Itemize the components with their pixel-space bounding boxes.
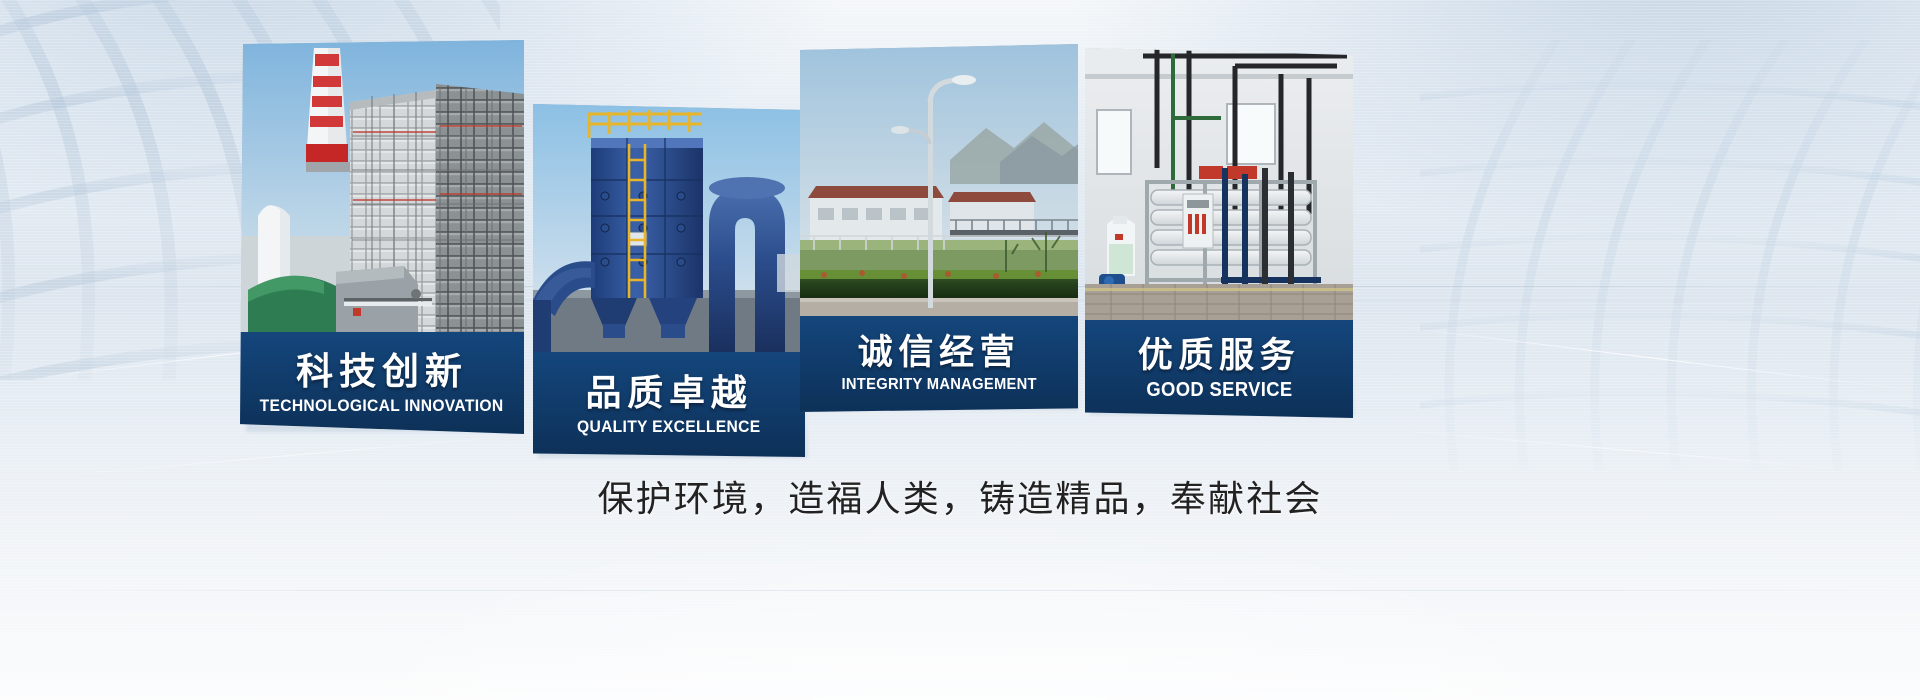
photo-quality-excellence <box>533 104 805 352</box>
panel-quality-excellence[interactable]: 品质卓越 QUALITY EXCELLENCE <box>533 104 805 457</box>
panel-technological-innovation[interactable]: 科技创新 TECHNOLOGICAL INNOVATION <box>240 40 524 434</box>
caption-cn-2: 品质卓越 <box>585 375 752 411</box>
caption-cn-1: 科技创新 <box>296 353 468 390</box>
caption-cn-3: 诚信经营 <box>858 335 1020 370</box>
caption-en-1: TECHNOLOGICAL INNOVATION <box>260 397 504 414</box>
caption-quality-excellence: 品质卓越 QUALITY EXCELLENCE <box>533 352 805 457</box>
panel-good-service[interactable]: 优质服务 GOOD SERVICE <box>1085 48 1353 418</box>
caption-good-service: 优质服务 GOOD SERVICE <box>1085 320 1353 418</box>
photo-good-service <box>1085 48 1353 320</box>
caption-en-2: QUALITY EXCELLENCE <box>577 418 760 435</box>
photo-integrity-management <box>800 44 1078 316</box>
company-tagline: 保护环境，造福人类，铸造精品，奉献社会 <box>0 470 1920 522</box>
diagrid-architecture-texture-right <box>1420 40 1920 470</box>
perspective-line-right-2 <box>1381 428 1879 473</box>
perspective-line-right <box>1362 322 1918 391</box>
corporate-culture-banner: 科技创新 TECHNOLOGICAL INNOVATION <box>0 0 1920 700</box>
floor-line <box>0 590 1920 591</box>
caption-technological-innovation: 科技创新 TECHNOLOGICAL INNOVATION <box>240 332 524 434</box>
caption-en-3: INTEGRITY MANAGEMENT <box>841 377 1036 393</box>
caption-en-4: GOOD SERVICE <box>1146 380 1292 400</box>
caption-integrity-management: 诚信经营 INTEGRITY MANAGEMENT <box>800 316 1078 412</box>
panel-integrity-management[interactable]: 诚信经营 INTEGRITY MANAGEMENT <box>800 44 1078 412</box>
photo-technological-innovation <box>240 40 524 332</box>
caption-cn-4: 优质服务 <box>1138 338 1300 373</box>
